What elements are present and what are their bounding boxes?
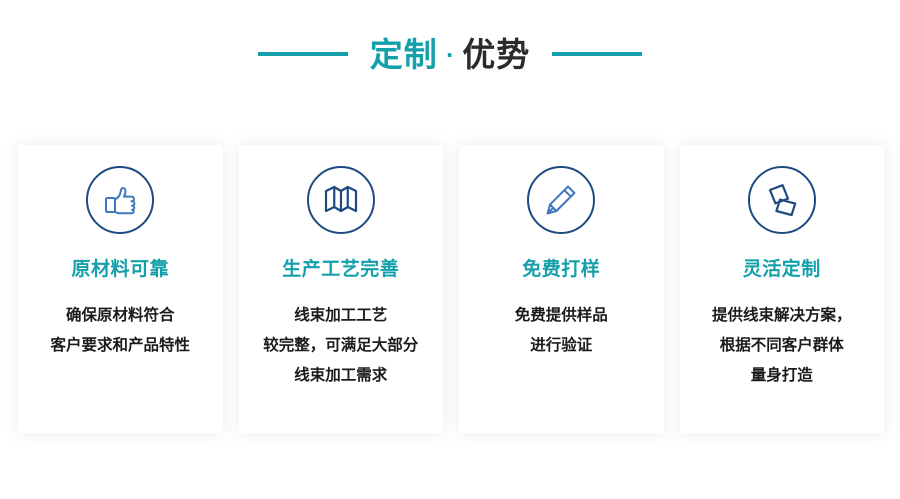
advantage-card[interactable]: 免费打样 免费提供样品 进行验证 [459, 145, 664, 433]
advantage-card[interactable]: 生产工艺完善 线束加工工艺 较完整，可满足大部分 线束加工需求 [239, 145, 444, 433]
page-title: 定制 · 优势 [370, 38, 531, 71]
title-secondary-text: 优势 [462, 38, 530, 71]
card-description-line: 量身打造 [712, 360, 852, 390]
card-description-line: 进行验证 [515, 330, 608, 360]
advantage-cards-row: 原材料可靠 确保原材料符合 客户要求和产品特性 生产工艺完善 线束加工工艺 较完… [18, 145, 884, 433]
card-description-line: 较完整，可满足大部分 [263, 330, 418, 360]
card-title: 生产工艺完善 [282, 260, 399, 279]
title-separator-dot: · [446, 45, 455, 65]
card-title: 原材料可靠 [71, 260, 169, 279]
thumbs-up-icon [86, 166, 154, 234]
card-description-line: 提供线束解决方案， [712, 300, 852, 330]
section-title: 定制 · 优势 [0, 26, 900, 82]
advantage-card[interactable]: 灵活定制 提供线束解决方案， 根据不同客户群体 量身打造 [680, 145, 885, 433]
advantage-card[interactable]: 原材料可靠 确保原材料符合 客户要求和产品特性 [18, 145, 223, 433]
title-primary-text: 定制 [370, 38, 438, 71]
pencil-icon [527, 166, 595, 234]
card-description-line: 线束加工需求 [263, 360, 418, 390]
card-description: 免费提供样品 进行验证 [505, 300, 618, 360]
card-description-line: 线束加工工艺 [263, 300, 418, 330]
card-description-line: 根据不同客户群体 [712, 330, 852, 360]
card-description-line: 免费提供样品 [515, 300, 608, 330]
stacked-cards-icon [748, 166, 816, 234]
folded-map-icon [307, 166, 375, 234]
card-description: 确保原材料符合 客户要求和产品特性 [40, 300, 200, 360]
title-rule-right [552, 52, 642, 56]
title-rule-left [258, 52, 348, 56]
card-description: 线束加工工艺 较完整，可满足大部分 线束加工需求 [253, 300, 428, 390]
card-description: 提供线束解决方案， 根据不同客户群体 量身打造 [702, 300, 862, 390]
card-title: 免费打样 [522, 260, 600, 279]
card-description-line: 客户要求和产品特性 [50, 330, 190, 360]
card-title: 灵活定制 [743, 260, 821, 279]
card-description-line: 确保原材料符合 [50, 300, 190, 330]
